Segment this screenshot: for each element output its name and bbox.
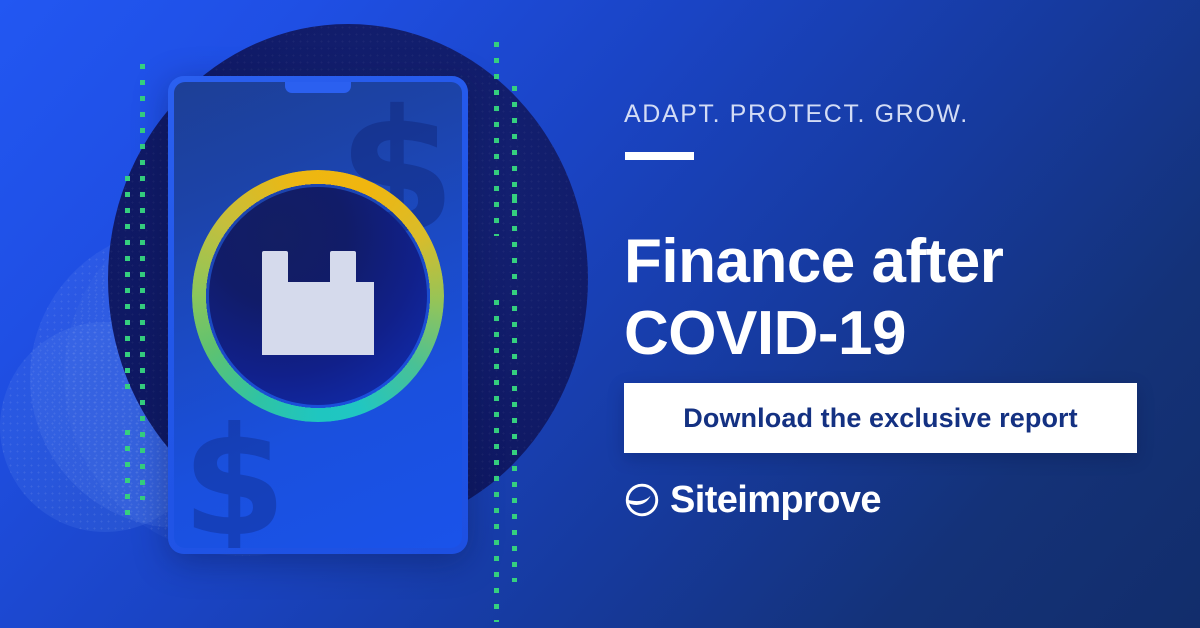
ring-inner-circle: $ <box>209 187 427 405</box>
bar-3 <box>330 251 356 355</box>
dotted-line-right-d <box>512 194 517 582</box>
siteimprove-circle-swoosh-icon <box>624 482 660 518</box>
bar-2 <box>296 282 322 355</box>
bar-1 <box>262 251 288 355</box>
dotted-line-right-b <box>494 300 499 622</box>
dotted-line-left-a <box>125 176 130 390</box>
bar-chart-glyph: $ <box>262 311 374 355</box>
dotted-line-left-c <box>140 64 145 500</box>
content-panel: ADAPT. PROTECT. GROW. Finance after COVI… <box>624 0 1164 628</box>
dotted-line-left-b <box>125 430 130 518</box>
download-report-button[interactable]: Download the exclusive report <box>624 383 1137 453</box>
dotted-line-right-a <box>494 42 499 236</box>
marketing-banner: $ $ $ ADAPT. PROTECT. GROW. <box>0 0 1200 628</box>
progress-ring: $ <box>192 170 444 422</box>
page-title: Finance after COVID-19 <box>624 226 1144 371</box>
divider-rule <box>625 152 694 160</box>
siteimprove-wordmark: Siteimprove <box>670 481 881 519</box>
dollar-watermark-bottom: $ <box>182 408 286 548</box>
headline-line-2: COVID-19 <box>624 298 1144 371</box>
headline-line-1: Finance after <box>624 226 1144 299</box>
siteimprove-logo[interactable]: Siteimprove <box>624 481 881 519</box>
phone-screen: $ $ $ <box>174 82 462 548</box>
phone-card-illustration: $ $ $ <box>168 76 468 554</box>
eyebrow-text: ADAPT. PROTECT. GROW. <box>624 100 969 129</box>
bar-chart-bars <box>262 282 374 355</box>
